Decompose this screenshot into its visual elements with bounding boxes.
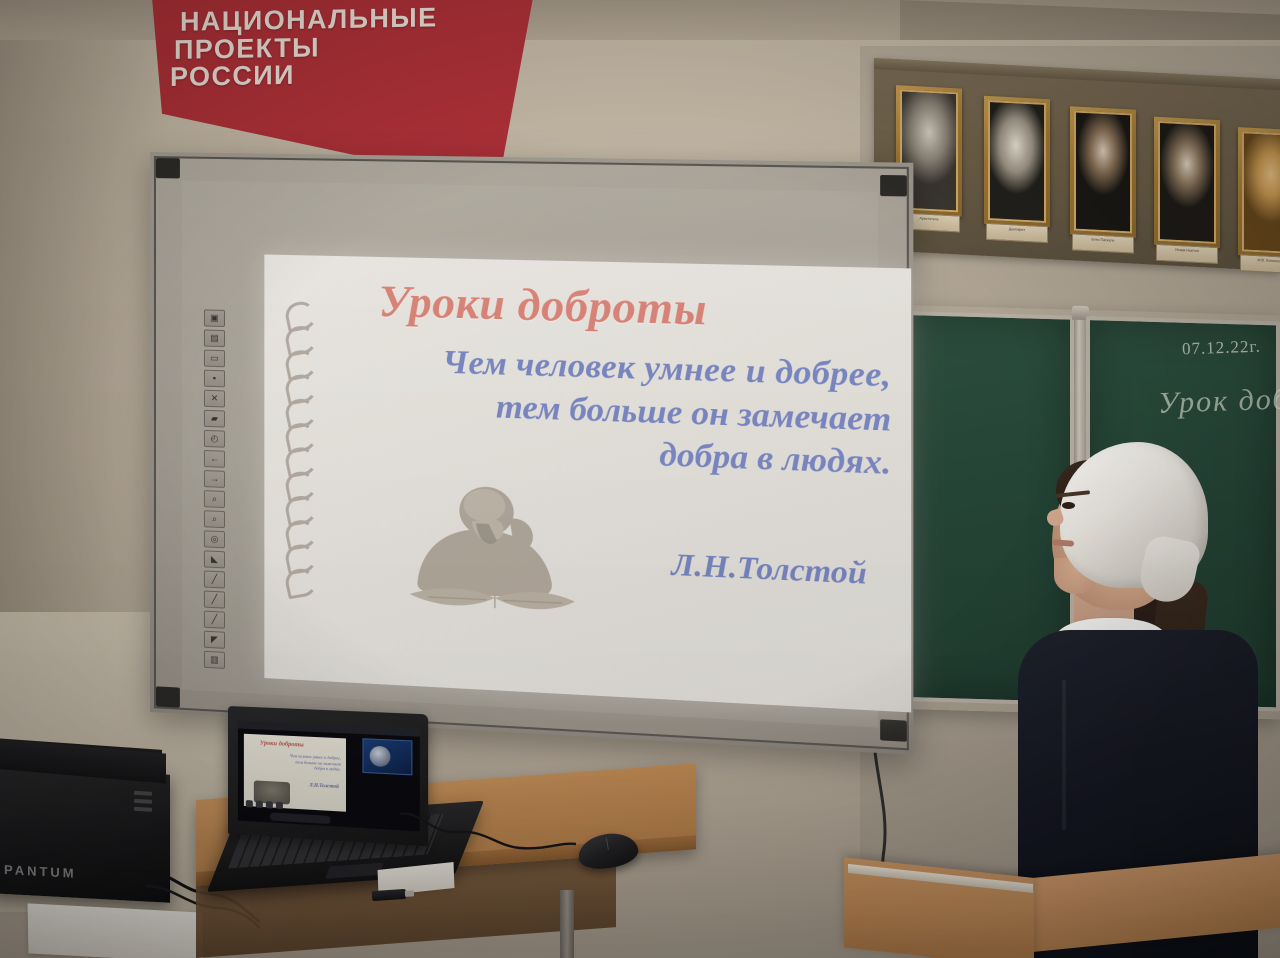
classroom-scene: НАЦИОНАЛЬНЫЕ ПРОЕКТЫ РОССИИ Аристотель Д… xyxy=(0,0,1280,958)
pointer-icon[interactable]: ◤ xyxy=(204,631,225,649)
pointer-tool-icon[interactable] xyxy=(256,801,263,808)
portrait-nameplate: Демокрит xyxy=(986,223,1048,243)
portrait-face-pascal xyxy=(1076,113,1130,232)
portrait-face-lomonosov xyxy=(1244,133,1280,252)
chalkboard-date: 07.12.22г. xyxy=(1182,337,1261,360)
portrait-nameplate: Блез Паскаль xyxy=(1072,233,1134,253)
frame-corner-cap xyxy=(880,175,907,197)
whiteboard-left-toolbar[interactable]: ▣ ▤ ▭ ▪ ✕ ▰ ◴ ← → ⌕ ⌕ ◎ ◣ ╱ ╱ ╱ ◤ xyxy=(202,309,227,669)
pen-thin-icon[interactable]: ╱ xyxy=(204,570,225,588)
scientist-portrait-gallery: Аристотель Демокрит Блез Паскаль Исаак Н… xyxy=(874,58,1280,271)
tolstoy-reading-illustration xyxy=(387,473,586,625)
portrait-frame: Блез Паскаль xyxy=(1070,106,1136,237)
portrait-frame: Исаак Ньютон xyxy=(1154,117,1220,248)
slide-quote: Чем человек умнее и добрее, тем больше о… xyxy=(301,338,891,486)
note-icon[interactable]: ▪ xyxy=(204,370,225,388)
portrait-frame: М.В. Ломоносов xyxy=(1238,127,1280,258)
zoom-in-icon[interactable]: ⌕ xyxy=(204,490,225,508)
banner-line-3: РОССИИ xyxy=(170,58,510,91)
mouse-cable xyxy=(400,808,590,868)
portrait-mat xyxy=(988,100,1046,223)
eye xyxy=(1062,502,1075,509)
laptop-slide-title: Уроки доброты xyxy=(260,739,304,748)
interactive-whiteboard[interactable]: ▣ ▤ ▭ ▪ ✕ ▰ ◴ ← → ⌕ ⌕ ◎ ◣ ╱ ╱ ╱ ◤ xyxy=(150,152,913,755)
zoom-out-icon[interactable]: ⌕ xyxy=(204,510,225,528)
presenter-laptop[interactable]: Уроки доброты Чем человек умнее и добрее… xyxy=(228,706,428,846)
close-icon[interactable]: ✕ xyxy=(204,390,225,408)
screen-capture-icon[interactable]: ▣ xyxy=(204,309,225,327)
zoom-tool-icon[interactable] xyxy=(266,801,273,808)
folder-icon[interactable]: ▰ xyxy=(204,410,225,428)
desk-leg xyxy=(560,890,574,958)
pen-tool-icon[interactable] xyxy=(246,800,253,807)
mouse-button-split xyxy=(606,838,609,850)
whiteboard-frame: ▣ ▤ ▭ ▪ ✕ ▰ ◴ ← → ⌕ ⌕ ◎ ◣ ╱ ╱ ╱ ◤ xyxy=(154,156,909,750)
portrait-face-democritus xyxy=(990,102,1044,221)
portrait-mat xyxy=(1242,131,1280,254)
portrait-mat xyxy=(1074,110,1132,233)
frame-corner-cap xyxy=(156,686,180,707)
arrow-right-icon[interactable]: → xyxy=(204,470,225,488)
portrait-face-newton xyxy=(1160,123,1214,242)
spotlight-icon[interactable]: ◎ xyxy=(204,530,225,548)
chalkboard-heading: Урок добро xyxy=(1157,381,1280,421)
dress-placket xyxy=(1062,680,1066,830)
undo-circle-icon[interactable]: ◴ xyxy=(204,430,225,448)
frame-corner-cap xyxy=(880,719,907,742)
laptop-slide-author: Л.Н.Толстой xyxy=(309,783,339,790)
laptop-slide-quote: Чем человек умнее и добрее, тем больше о… xyxy=(256,751,341,772)
portrait-nameplate: Исаак Ньютон xyxy=(1156,244,1218,264)
page-icon[interactable]: ▭ xyxy=(204,350,225,368)
portrait-nameplate: М.В. Ломоносов xyxy=(1240,254,1280,274)
printer-brand-label: PANTUM xyxy=(4,862,77,881)
slide-control-buttons[interactable] xyxy=(246,800,283,809)
printer-buttons[interactable] xyxy=(134,791,152,812)
pen-icon[interactable]: ╱ xyxy=(204,591,225,609)
banner-text: НАЦИОНАЛЬНЫЕ ПРОЕКТЫ РОССИИ xyxy=(170,3,510,92)
menu-tool-icon[interactable] xyxy=(276,802,283,809)
slide-author: Л.Н.Толстой xyxy=(671,546,867,592)
marker-icon[interactable]: ╱ xyxy=(204,611,225,629)
next-slide-thumbnail[interactable] xyxy=(362,738,412,775)
slideshow-progress-bar[interactable] xyxy=(270,812,331,824)
keyboard-icon[interactable]: ▥ xyxy=(204,651,225,669)
eraser-icon[interactable]: ◣ xyxy=(204,550,225,568)
save-icon[interactable]: ▤ xyxy=(204,329,225,347)
laptop-trackpad[interactable] xyxy=(325,863,384,879)
slide-content: Уроки доброты Чем человек умнее и добрее… xyxy=(264,254,911,712)
laptop-screen[interactable]: Уроки доброты Чем человек умнее и добрее… xyxy=(238,720,420,831)
portrait-mat xyxy=(1158,121,1216,244)
portrait-frame: Демокрит xyxy=(984,96,1050,227)
slide-title: Уроки доброты xyxy=(379,275,881,340)
thumbnail-image xyxy=(370,746,391,767)
arrow-left-icon[interactable]: ← xyxy=(204,450,225,468)
projected-slide: Уроки доброты Чем человек умнее и добрее… xyxy=(264,254,911,712)
frame-corner-cap xyxy=(156,158,180,178)
whiteboard-surface[interactable]: ▣ ▤ ▭ ▪ ✕ ▰ ◴ ← → ⌕ ⌕ ◎ ◣ ╱ ╱ ╱ ◤ xyxy=(182,181,878,728)
